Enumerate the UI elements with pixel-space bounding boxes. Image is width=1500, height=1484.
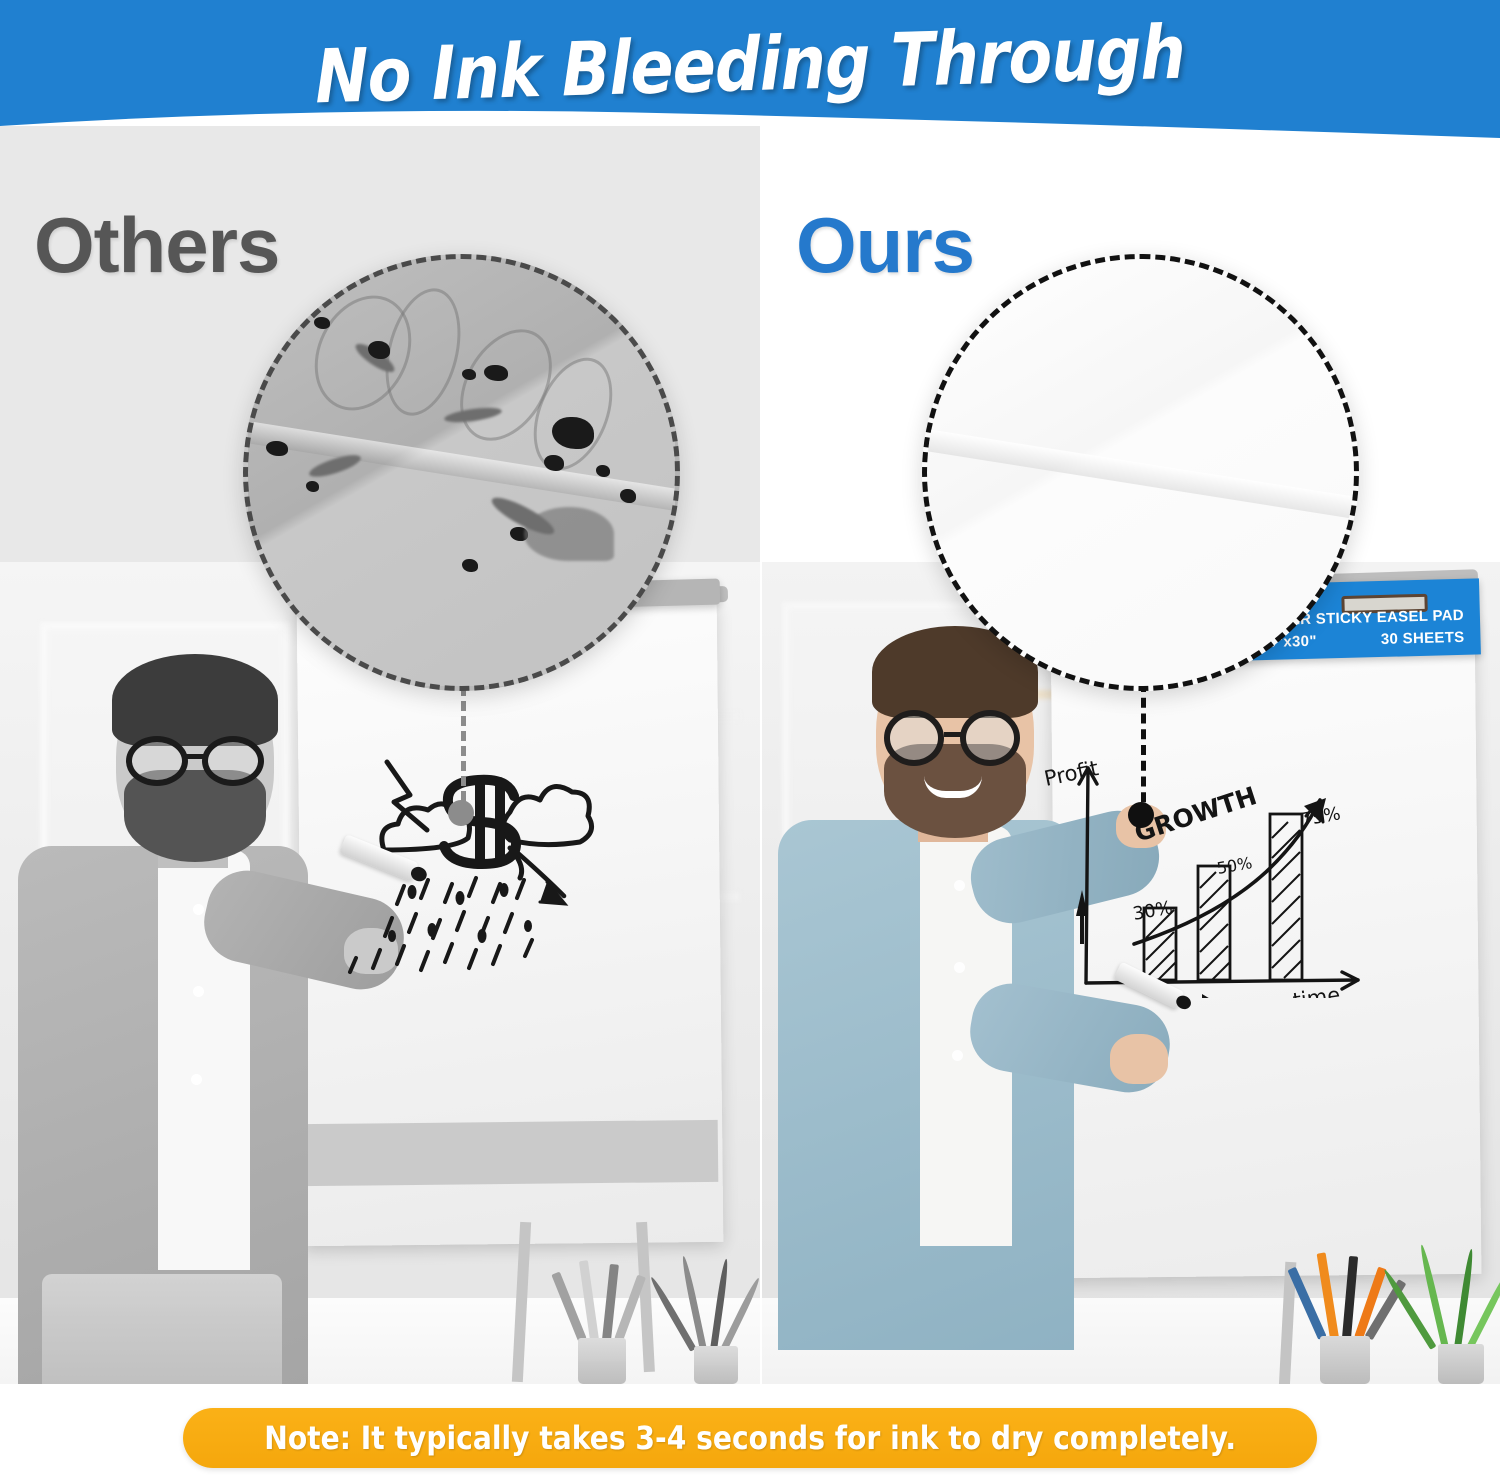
ink-blot-2 xyxy=(368,341,390,359)
plant-left-bottom xyxy=(660,1238,756,1384)
panel-others: Others xyxy=(0,126,760,1384)
panel-divider xyxy=(760,126,762,1384)
growth-chart-doodle: Profit GROWTH 30% 50% 75% time xyxy=(1038,748,1408,998)
person-glasses-bridge-right xyxy=(944,732,962,737)
y-axis xyxy=(1086,768,1088,983)
paper-fold-right xyxy=(922,422,1359,527)
zoom-callout-ours xyxy=(922,254,1359,691)
person-pants-left xyxy=(42,1274,282,1384)
panel-label-others: Others xyxy=(34,206,279,284)
connector-dot-right xyxy=(1128,802,1154,828)
person-glasses-bridge-left xyxy=(186,754,204,759)
person-glasses-right-lensL xyxy=(884,710,944,766)
ink-splatter-fan xyxy=(524,507,614,561)
plant-right-bottom xyxy=(1402,1218,1500,1384)
pencil-r3 xyxy=(1342,1256,1358,1338)
panel-ours: Ours AFMA xyxy=(762,126,1500,1384)
ink-blot-1 xyxy=(314,317,330,329)
ink-blot-11 xyxy=(462,559,478,572)
bottom-note-banner: Note: It typically takes 3-4 seconds for… xyxy=(183,1408,1317,1468)
ink-blot-3 xyxy=(462,369,476,380)
bar-label-2: 50% xyxy=(1215,853,1253,878)
person-hand-bottom-right xyxy=(1110,1034,1168,1084)
pad-sheet-count: 30 SHEETS xyxy=(1381,627,1465,651)
plant-pot-body-right xyxy=(1438,1344,1484,1384)
ink-blot-7 xyxy=(620,489,636,503)
cup-body-right xyxy=(1320,1336,1370,1384)
y-axis-label: Profit xyxy=(1042,756,1101,791)
page-title: No Ink Bleeding Through xyxy=(104,4,1395,127)
person-pants-right xyxy=(804,1236,1048,1384)
pencil-l4 xyxy=(614,1275,646,1342)
comparison-area: Others xyxy=(0,126,1500,1384)
person-glasses-right-lens xyxy=(202,736,264,786)
pencil-cup-left xyxy=(560,1234,642,1384)
header-wave-fill xyxy=(0,0,1500,138)
shirt-button-right-1 xyxy=(954,880,965,891)
person-hair-left xyxy=(112,654,278,746)
lightning-bolt xyxy=(387,762,427,830)
person-glasses-right-lensR xyxy=(960,710,1020,766)
zoom-callout-others xyxy=(243,254,680,691)
x-axis-label: time xyxy=(1291,983,1341,998)
ink-blot-9 xyxy=(306,481,319,492)
shirt-button-left-1 xyxy=(193,904,204,915)
shirt-button-right-3 xyxy=(952,1050,963,1061)
ink-blot-4 xyxy=(484,365,508,381)
leaf-l4 xyxy=(720,1277,760,1352)
panel-label-ours: Ours xyxy=(796,206,974,284)
plant-pot-body-left xyxy=(694,1346,738,1384)
leaf-r4 xyxy=(1466,1268,1500,1350)
connector-dot-left xyxy=(448,800,474,826)
ink-blot-6 xyxy=(596,465,610,477)
pencil-cup-right xyxy=(1302,1224,1392,1384)
connector-ours xyxy=(1128,682,1154,818)
scene-others xyxy=(0,562,760,1384)
cup-body-left xyxy=(578,1338,626,1384)
connector-line-right xyxy=(1141,682,1146,818)
bar-label-1: 30% xyxy=(1131,897,1174,925)
ink-blot-8 xyxy=(266,441,288,456)
shirt-button-right-2 xyxy=(954,962,965,973)
bottom-note-text: Note: It typically takes 3-4 seconds for… xyxy=(264,1419,1236,1457)
shirt-button-left-2 xyxy=(193,986,204,997)
shirt-button-left-3 xyxy=(191,1074,202,1085)
person-glasses-left-lens xyxy=(126,736,188,786)
paper-fold-left xyxy=(243,414,680,519)
ink-blot-5 xyxy=(544,455,564,471)
